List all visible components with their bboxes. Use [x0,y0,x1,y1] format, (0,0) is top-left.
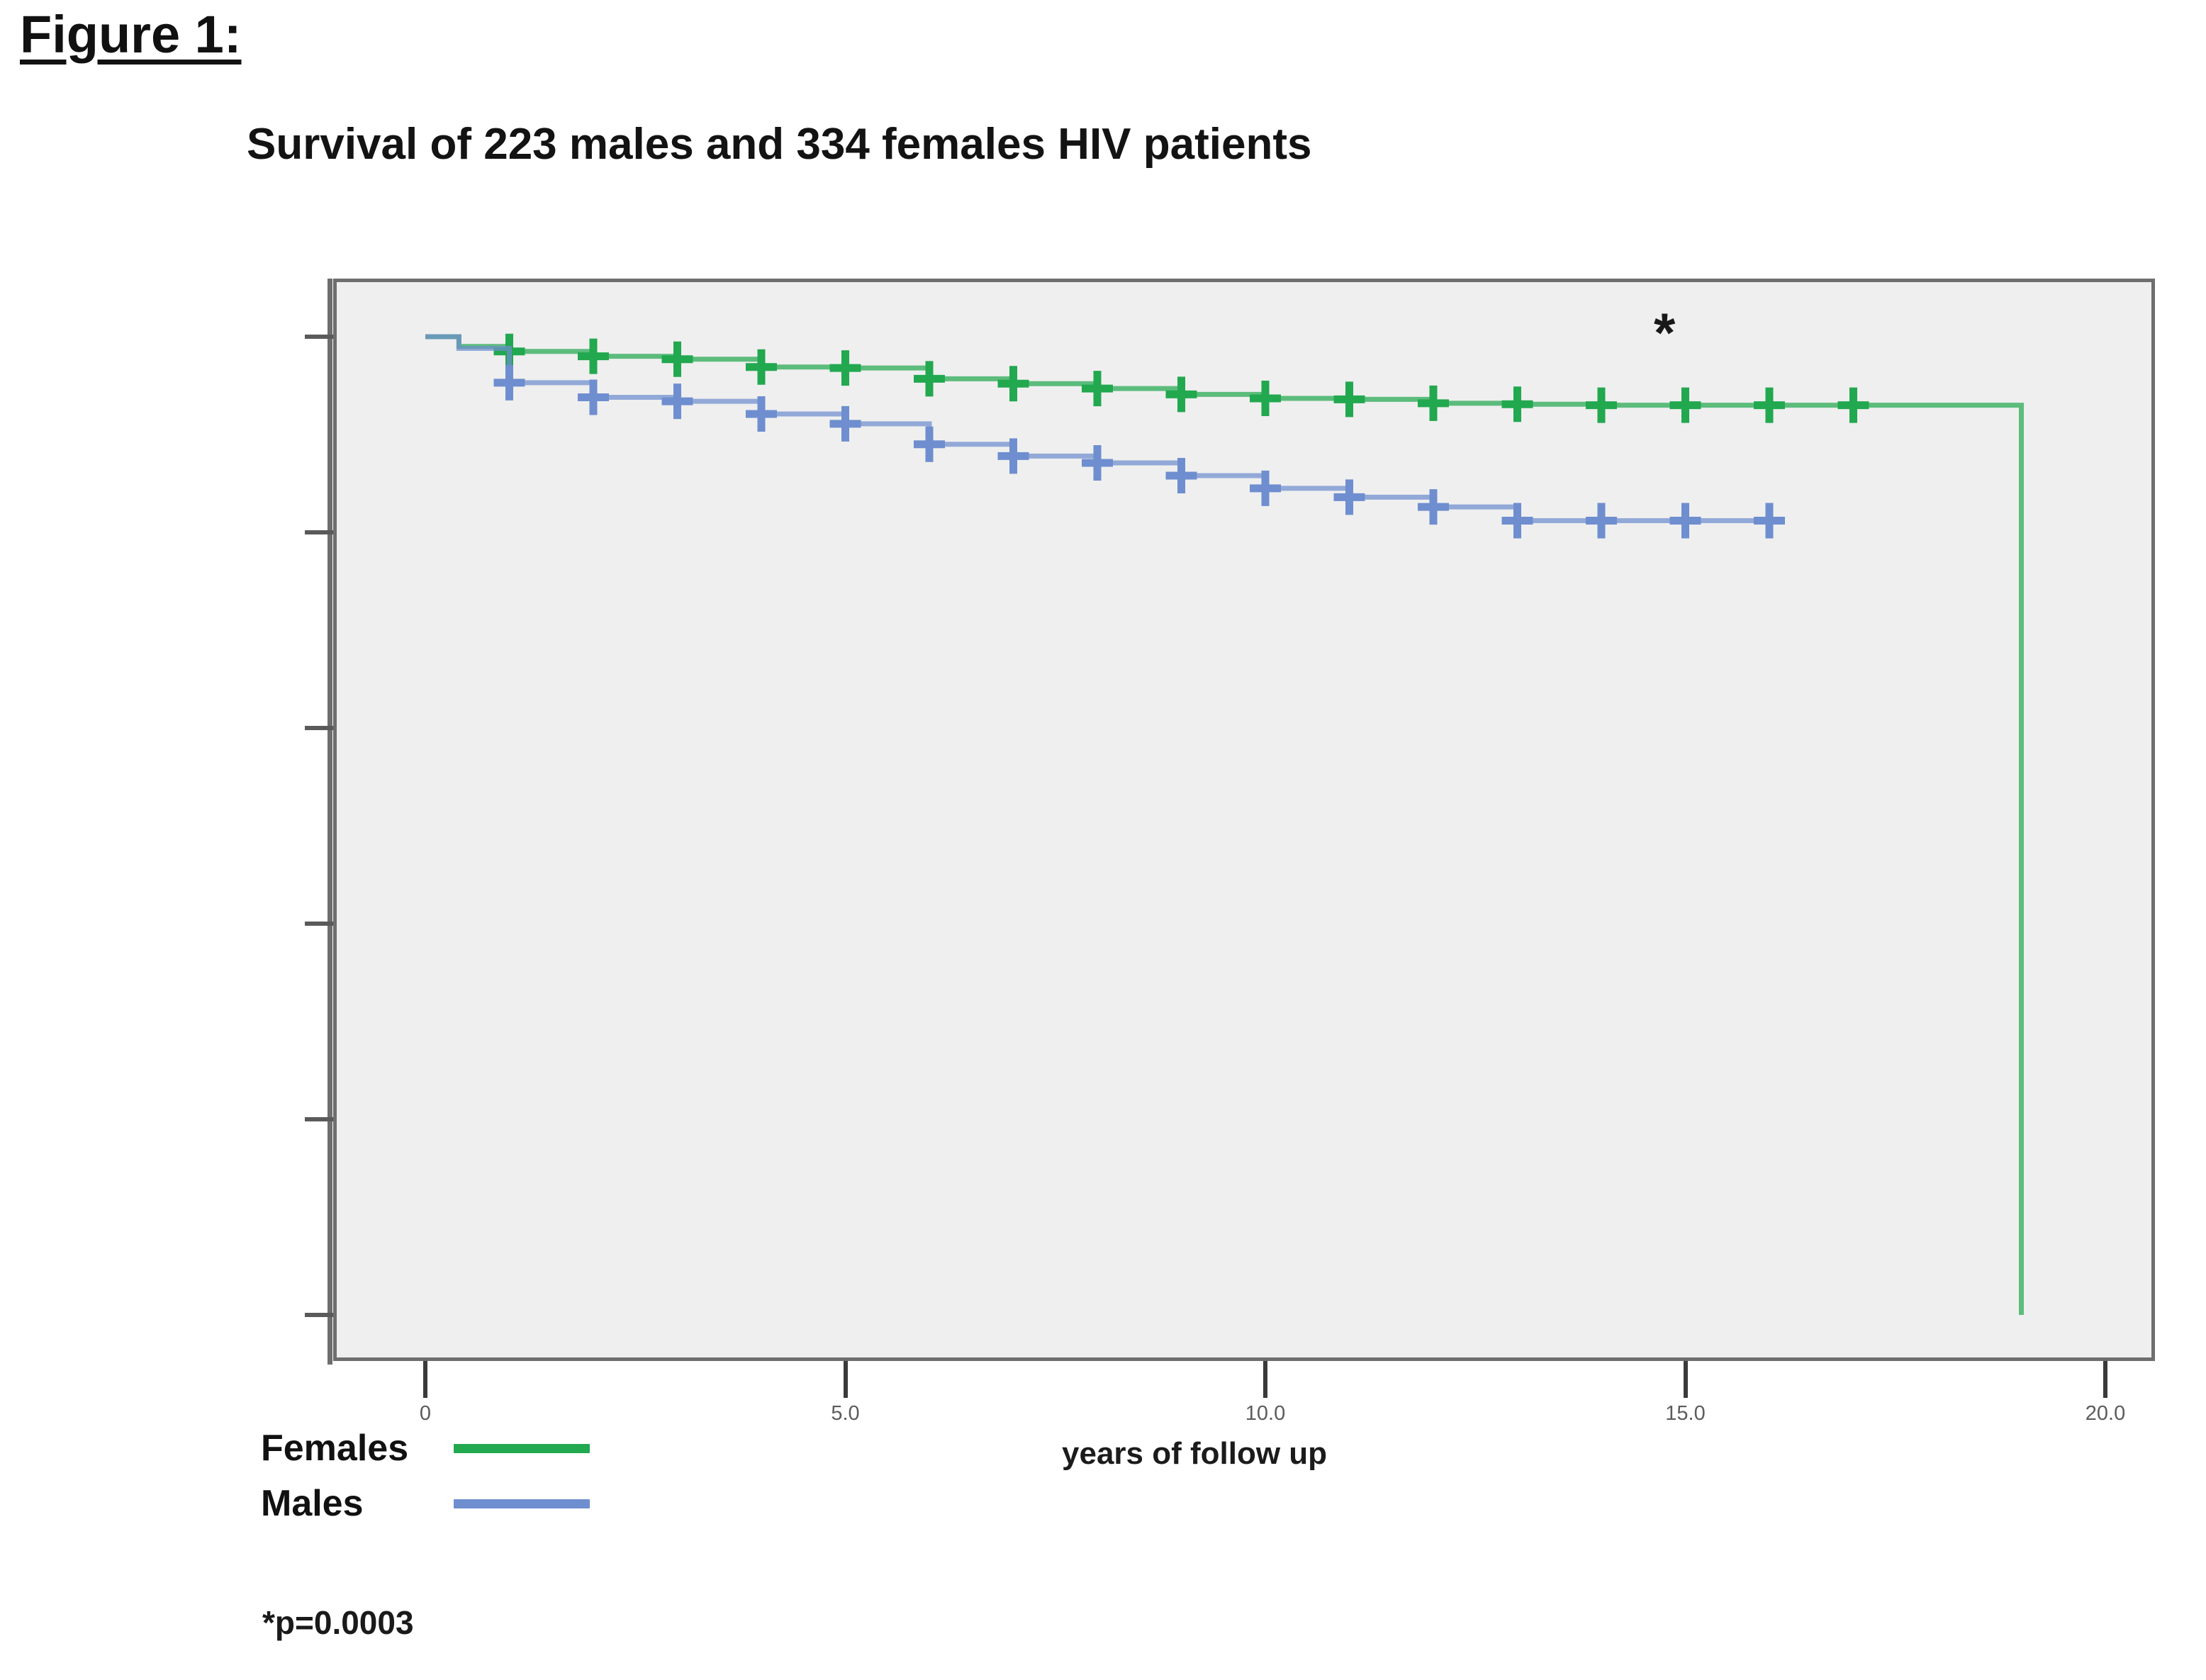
legend-item-females: Females [261,1421,590,1476]
legend-item-males: Males [261,1476,590,1531]
y-tick-mark [305,1313,333,1317]
x-tick-label: 5.0 [831,1402,859,1426]
legend-label-females: Females [261,1427,454,1469]
y-tick-mark [305,530,333,534]
y-tick-mark [305,726,333,730]
y-tick-mark [305,922,333,926]
x-tick-mark [844,1361,848,1398]
x-axis-title: years of follow up [1062,1436,1327,1472]
significance-star: * [1654,305,1675,360]
x-tick-mark [2103,1361,2107,1398]
legend-label-males: Males [261,1482,454,1525]
y-axis-spine [327,279,332,1365]
y-tick-mark [305,1117,333,1121]
x-tick-mark [1684,1361,1688,1398]
plot-frame [333,279,2155,1361]
x-tick-label: 15.0 [1665,1402,1705,1426]
legend-swatch-females [454,1444,590,1453]
p-value-footnote: *p=0.0003 [262,1603,414,1642]
x-tick-mark [1263,1361,1267,1398]
legend-swatch-males [454,1499,590,1508]
x-tick-label: 10.0 [1245,1402,1285,1426]
x-tick-mark [423,1361,427,1398]
x-tick-label: 20.0 [2085,1402,2125,1426]
y-tick-mark [305,335,333,339]
legend: Females Males [261,1421,590,1531]
